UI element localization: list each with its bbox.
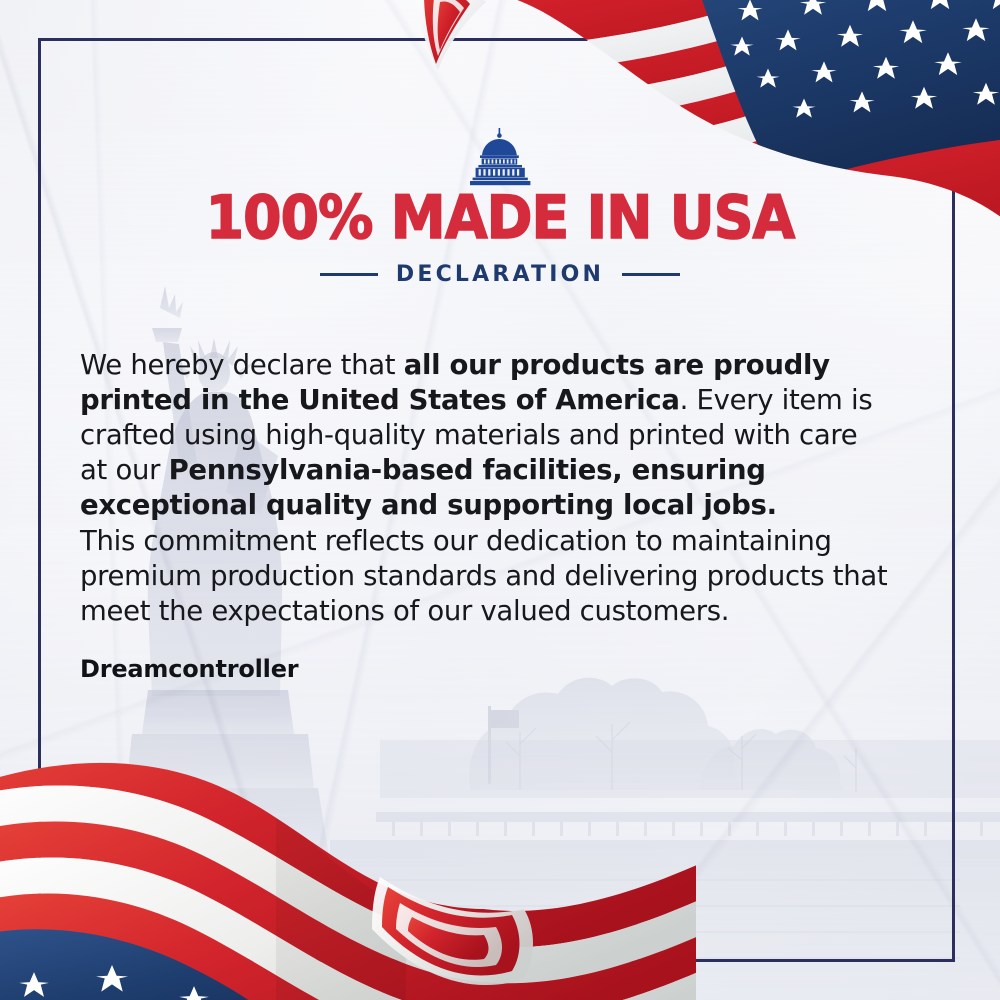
paragraph-2: This commitment reflects our dedication … <box>80 524 890 629</box>
signature: Dreamcontroller <box>80 655 298 683</box>
paragraph-1: We hereby declare that all our products … <box>80 348 890 523</box>
declaration-body: We hereby declare that all our products … <box>80 348 890 629</box>
emphasis-text: Pennsylvania-based facilities, ensuring … <box>80 454 777 521</box>
left-dash-icon <box>320 273 378 276</box>
flag-curl-left <box>416 0 486 70</box>
body-text: This commitment reflects our dedication … <box>80 525 887 627</box>
subtitle-row: DECLARATION <box>0 262 1000 287</box>
declaration-page: 100% MADE IN USA DECLARATION We hereby d… <box>0 0 1000 1000</box>
page-subtitle: DECLARATION <box>396 262 604 287</box>
right-dash-icon <box>622 273 680 276</box>
flag-top-right-icon <box>390 0 1000 236</box>
body-text: We hereby declare that <box>80 349 404 381</box>
flag-bottom-left-icon <box>0 751 696 1000</box>
